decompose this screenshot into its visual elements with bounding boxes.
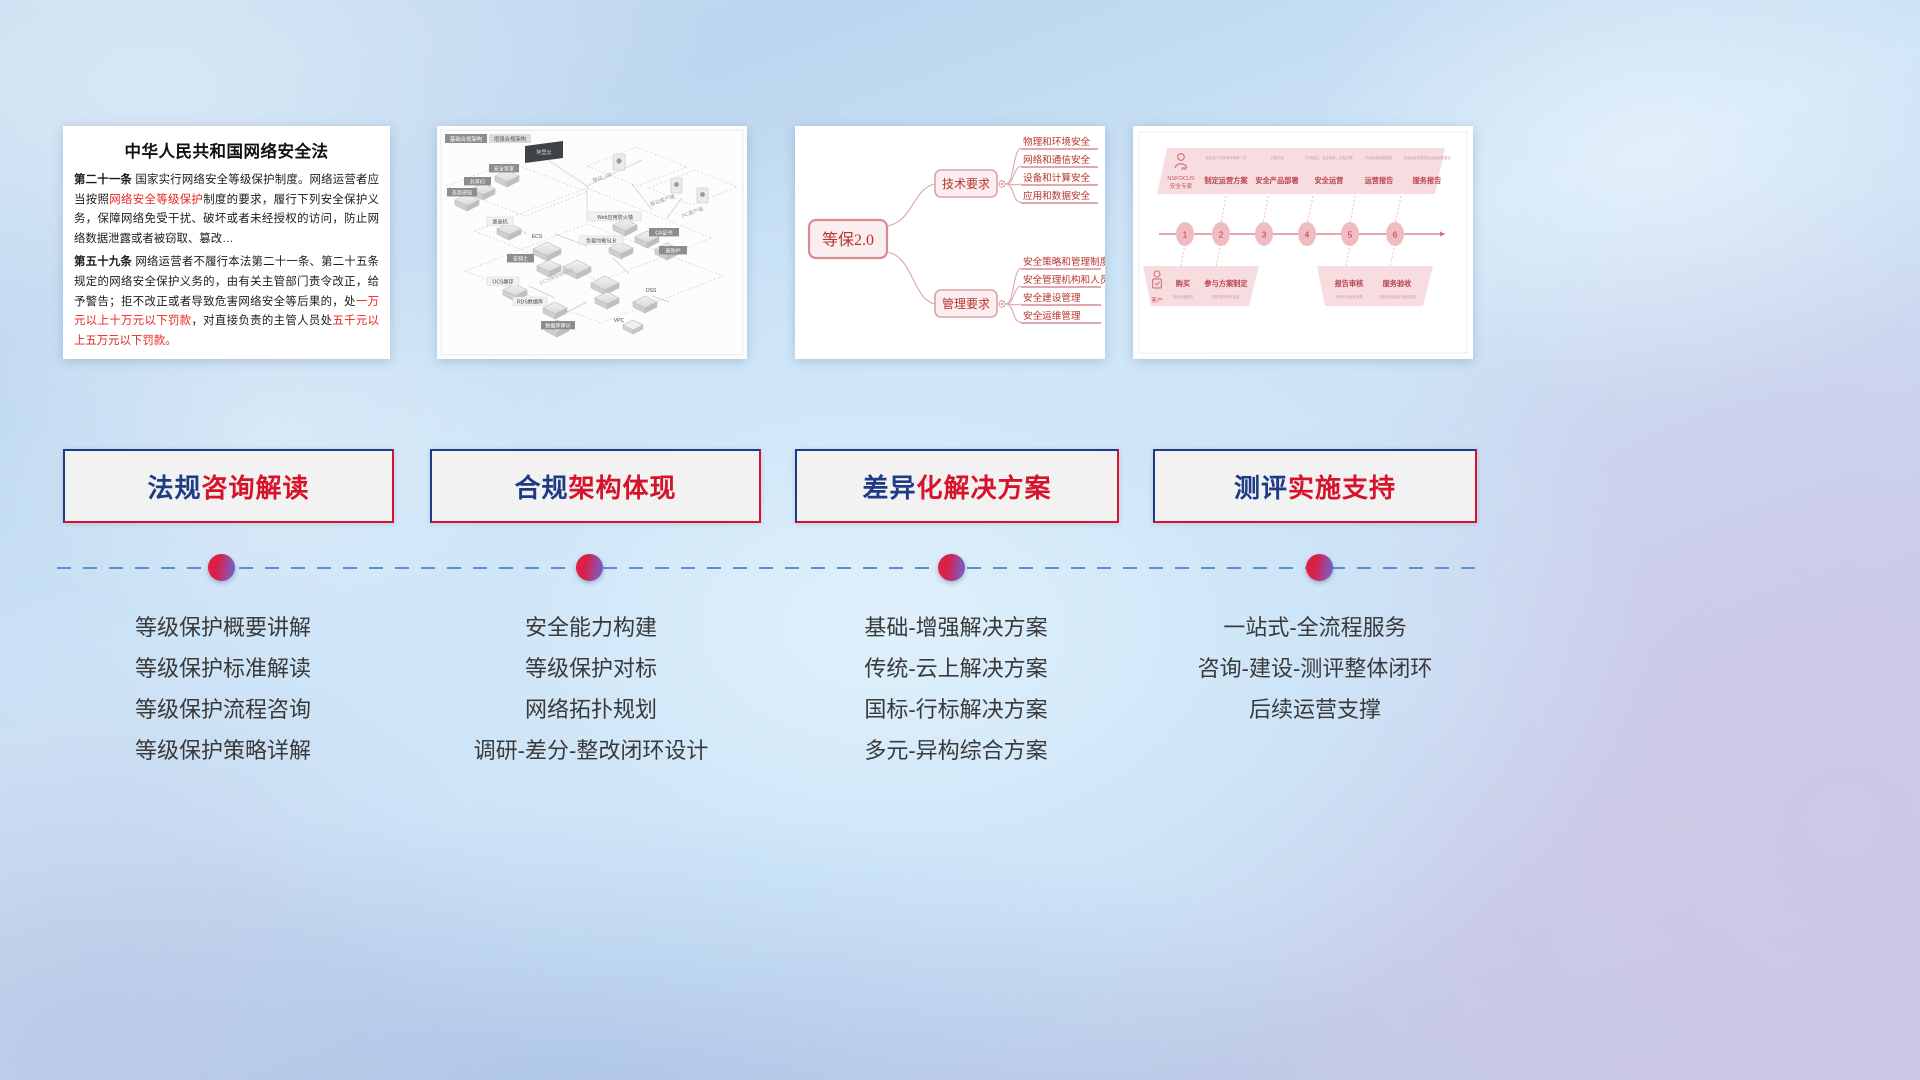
mind-mgmt-item-2: 安全建设管理 [1023,292,1081,304]
topo-label-steward: 安全管家 [489,164,519,172]
svg-text:增强合规架构: 增强合规架构 [494,135,527,143]
pill-label-1-blue: 合规 [514,474,568,503]
pill-label-0-blue: 法规 [147,474,201,503]
compliance-architecture-card[interactable]: 基础合规架构 增强合规架构 [437,126,747,359]
timeline-dot-3[interactable] [938,554,965,581]
evaluation-support-list: 一站式-全流程服务 咨询-建设-测评整体闭环 后续运营支撑 [1130,607,1500,730]
nsf-step-4: 5 [1348,231,1353,240]
pill-label-2: 差异化解决方案 [862,468,1051,505]
list-item: 一站式-全流程服务 [1130,607,1500,648]
list-item: 多元-异构综合方案 [771,730,1141,771]
timeline-dashed-line [57,567,1477,569]
pill-button-differentiated-solution[interactable]: 差异化解决方案 [795,449,1119,523]
list-item: 后续运营支撑 [1130,689,1500,730]
pill-label-3-blue: 测评 [1234,474,1288,503]
topo-label-ocs: OCS缓存 [487,277,519,285]
topo-label-dbaudit: 数据库审计 [541,321,575,329]
pill-button-evaluation-support[interactable]: 测评实施支持 [1153,449,1477,523]
mind-tech-item-2: 设备和计算安全 [1023,172,1091,184]
svg-text:堡垒机: 堡垒机 [492,218,507,225]
timeline-dot-1[interactable] [208,554,235,581]
network-topology-diagram: 基础合规架构 增强合规架构 [437,126,747,359]
nsf-bottom-sub-2: 评审安全运营效果 [1335,294,1363,299]
pill-button-regulation-consulting[interactable]: 法规咨询解读 [63,449,394,523]
list-item: 咨询-建设-测评整体闭环 [1130,648,1500,689]
law-paragraph-1: 第二十一条 国家实行网络安全等级保护制度。网络运营者应当按照网络安全等级保护制度… [74,171,379,249]
list-item: 调研-差分-整改闭环设计 [406,730,776,771]
law-card-title: 中华人民共和国网络安全法 [63,138,390,162]
topo-label-situational: 态势感知 [447,188,477,196]
svg-text:VPC: VPC [614,318,625,324]
law-card-body: 第二十一条 国家实行网络安全等级保护制度。网络运营者应当按照网络安全等级保护制度… [63,171,390,351]
list-item: 等级保护策略详解 [38,730,408,771]
svg-text:管理要求: 管理要求 [942,296,990,311]
mind-root: 等保2.0 [809,220,887,258]
regulation-consulting-list: 等级保护概要讲解 等级保护标准解读 等级保护流程咨询 等级保护策略详解 [38,607,408,771]
mind-tech-item-0: 物理和环境安全 [1023,136,1091,148]
svg-text:安骑士: 安骑士 [513,255,528,262]
list-item: 等级保护概要讲解 [38,607,408,648]
mind-tech-item-1: 网络和通信安全 [1023,154,1091,166]
expert-label-line1: NSFOCUS [1167,176,1195,182]
svg-text:RDS数据库: RDS数据库 [517,298,543,305]
pill-label-1: 合规架构体现 [514,468,676,505]
mind-tech-item-3: 应用和数据安全 [1023,190,1091,202]
nsf-bottom-sub-0: 安全运营服务 [1173,294,1194,299]
nsf-step-5: 6 [1393,231,1398,240]
svg-text:共享IO: 共享IO [470,178,486,185]
nsf-step-3: 4 [1305,231,1310,240]
dengbao-mindmap: 等保2.0 技术要求 物理和环境安全 [795,126,1105,359]
svg-text:技术要求: 技术要求 [942,177,990,191]
nsf-top-title-4: 服务报告 [1413,176,1442,185]
nsf-step-2: 3 [1262,231,1267,240]
nsf-bottom-title-1: 参与方案制定 [1203,279,1248,288]
nsf-top-sub-3: 阶段运营效果报告 [1365,155,1393,160]
pill-label-2-red: 化解决方案 [917,474,1052,503]
nsf-top-sub-1: 实施方案 [1270,155,1284,160]
list-item: 安全能力构建 [406,607,776,648]
topo-label-oss: OSS [646,288,657,294]
mindmap-card[interactable]: 等保2.0 技术要求 物理和环境安全 [795,126,1105,359]
law-article-label-2: 第五十九条 [74,256,132,268]
svg-text:数据库审计: 数据库审计 [545,322,570,329]
pill-label-2-blue: 差异 [862,474,916,503]
topo-label-anqishi: 安骑士 [507,254,534,262]
topo-label-ecs: ECS [532,234,543,240]
list-item: 等级保护流程咨询 [38,689,408,730]
svg-text:Web应用防火墙: Web应用防火墙 [597,214,633,221]
list-item: 等级保护对标 [406,648,776,689]
slide-stage: 中华人民共和国网络安全法 第二十一条 国家实行网络安全等级保护制度。网络运营者应… [0,0,1920,1080]
nsf-top-sub-4: 总结运营效果提出后续运营建议 [1403,155,1451,160]
svg-text:CA证书: CA证书 [655,229,672,236]
timeline-dot-2[interactable] [576,554,603,581]
svg-text:高防IP: 高防IP [665,247,681,254]
nsf-top-title-2: 安全运营 [1315,176,1344,185]
svg-text:OCS缓存: OCS缓存 [492,278,513,285]
pill-label-1-red: 架构体现 [569,474,677,503]
timeline-dot-4[interactable] [1306,554,1333,581]
svg-text:基础合规架构: 基础合规架构 [450,135,483,143]
nsf-bottom-sub-1: 提供基本现状信息 [1212,294,1240,299]
nsf-bottom-title-0: 购买 [1176,279,1190,288]
law-paragraph-2: 第五十九条 网络运营者不履行本法第二十一条、第二十五条规定的网络安全保护义务的，… [74,253,379,351]
expert-banner [1157,148,1445,194]
mind-mgmt-item-1: 安全管理机构和人员 [1023,274,1105,286]
topo-label-ca: CA证书 [649,228,679,236]
list-item: 基础-增强解决方案 [771,607,1141,648]
nsfocus-service-timeline: NSFOCUS 安全专家 结合客户实际需求明确人员 制定运营方案 实施方案 安全… [1133,126,1473,359]
topo-label-sharedio: 共享IO [464,177,491,185]
svg-text:负载均衡SLB: 负载均衡SLB [586,237,617,244]
law-card[interactable]: 中华人民共和国网络安全法 第二十一条 国家实行网络安全等级保护制度。网络运营者应… [63,126,390,359]
nsf-top-title-0: 制定运营方案 [1204,176,1248,185]
pill-label-3: 测评实施支持 [1234,468,1396,505]
nsf-bottom-title-2: 报告审核 [1335,279,1365,288]
nsf-step-1: 2 [1219,231,1224,240]
nsf-bottom-sub-3: 评审验证运营方案及效果 [1378,294,1416,299]
topo-label-vpc: VPC [614,318,625,324]
nsf-top-sub-0: 结合客户实际需求明确人员 [1206,155,1247,160]
customer-label: 客户 [1151,296,1162,304]
svg-text:态势感知: 态势感知 [452,189,472,196]
topo-label-waf: Web应用防火墙 [589,212,641,221]
list-item: 国标-行标解决方案 [771,689,1141,730]
svg-text:安全管家: 安全管家 [494,165,514,172]
law-p1-seg2: 网络安全等级保护 [109,194,203,206]
nsf-step-0: 1 [1183,231,1188,240]
nsf-bottom-title-3: 服务验收 [1383,279,1413,288]
topo-label-gaofangip: 高防IP [659,246,687,254]
expert-label-line2: 安全专家 [1170,182,1193,190]
pill-label-3-red: 实施支持 [1288,474,1396,503]
topo-label-rds: RDS数据库 [513,297,547,305]
svg-text:阿里云: 阿里云 [536,149,551,156]
svg-text:等保2.0: 等保2.0 [822,231,874,249]
pill-label-0: 法规咨询解读 [147,468,309,505]
pill-button-compliance-architecture[interactable]: 合规架构体现 [430,449,761,523]
topo-label-bastion: 堡垒机 [487,217,513,225]
topo-label-slb: 负载均衡SLB [579,236,623,244]
nsf-top-title-3: 运营报告 [1365,176,1394,185]
list-item: 网络拓扑规划 [406,689,776,730]
pill-label-0-red: 咨询解读 [202,474,310,503]
mind-mgmt-item-3: 安全运维管理 [1023,310,1081,322]
mind-mgmt-item-0: 安全策略和管理制度 [1023,256,1105,268]
nsf-top-sub-2: 日常巡检、安全事件、应急处置 [1305,155,1353,160]
svg-text:OSS: OSS [646,288,657,294]
law-p2-seg3: ，对直接负责的主管人员处 [191,315,332,327]
service-timeline-card[interactable]: NSFOCUS 安全专家 结合客户实际需求明确人员 制定运营方案 实施方案 安全… [1133,126,1473,359]
differentiated-solution-list: 基础-增强解决方案 传统-云上解决方案 国标-行标解决方案 多元-异构综合方案 [771,607,1141,771]
compliance-architecture-list: 安全能力构建 等级保护对标 网络拓扑规划 调研-差分-整改闭环设计 [406,607,776,771]
list-item: 等级保护标准解读 [38,648,408,689]
list-item: 传统-云上解决方案 [771,648,1141,689]
svg-text:ECS: ECS [532,234,543,240]
law-article-label-1: 第二十一条 [74,174,132,186]
nsf-top-title-1: 安全产品部署 [1255,176,1298,185]
